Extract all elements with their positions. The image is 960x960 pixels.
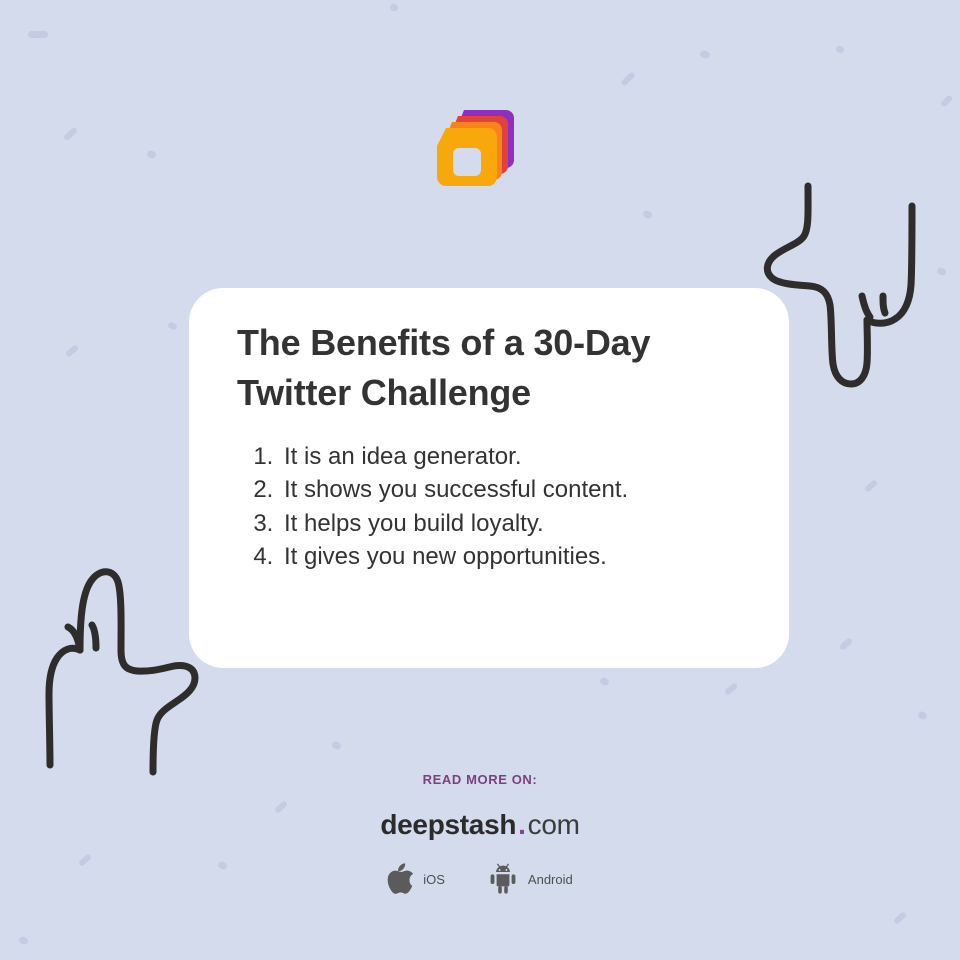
- confetti-dash: [642, 210, 653, 220]
- confetti-dash: [65, 344, 80, 358]
- ios-store-badge[interactable]: iOS: [387, 863, 445, 895]
- confetti-dash: [936, 266, 947, 276]
- confetti-dash: [864, 479, 878, 493]
- confetti-dash: [835, 44, 845, 54]
- benefits-list: It is an idea generator. It shows you su…: [248, 440, 628, 573]
- page-title: The Benefits of a 30-Day Twitter Challen…: [237, 318, 737, 417]
- wordmark-dot: .: [516, 809, 527, 840]
- list-item: It shows you successful content.: [280, 473, 628, 506]
- store-badges: iOS: [0, 863, 960, 895]
- wordmark-tld: com: [528, 809, 580, 840]
- pointing-hand-bottom-left-illustration: [22, 560, 207, 785]
- list-item: It is an idea generator.: [280, 440, 628, 473]
- list-item: It helps you build loyalty.: [280, 507, 628, 540]
- confetti-dash: [167, 321, 178, 331]
- confetti-dash: [28, 31, 48, 38]
- android-store-badge[interactable]: Android: [487, 863, 573, 895]
- confetti-dash: [839, 637, 854, 651]
- poster-canvas: The Benefits of a 30-Day Twitter Challen…: [0, 0, 960, 960]
- content-card: The Benefits of a 30-Day Twitter Challen…: [189, 288, 789, 668]
- confetti-dash: [893, 911, 907, 925]
- confetti-dash: [917, 710, 928, 720]
- confetti-dash: [331, 740, 342, 750]
- confetti-dash: [699, 50, 711, 60]
- read-more-label: READ MORE ON:: [0, 772, 960, 787]
- confetti-dash: [63, 127, 78, 141]
- footer: READ MORE ON: deepstash.com iOS: [0, 760, 960, 895]
- deepstash-logo-icon: [428, 104, 520, 196]
- wordmark-name: deepstash: [380, 809, 516, 840]
- deepstash-wordmark[interactable]: deepstash.com: [0, 809, 960, 841]
- ios-store-label: iOS: [423, 872, 445, 887]
- android-icon: [487, 863, 519, 895]
- android-store-label: Android: [528, 872, 573, 887]
- confetti-dash: [599, 676, 610, 686]
- confetti-dash: [18, 935, 29, 945]
- confetti-dash: [724, 682, 739, 696]
- apple-icon: [387, 863, 414, 895]
- list-item: It gives you new opportunities.: [280, 540, 628, 573]
- confetti-dash: [940, 94, 953, 107]
- confetti-dash: [620, 71, 636, 86]
- confetti-dash: [389, 3, 399, 13]
- confetti-dash: [146, 150, 157, 160]
